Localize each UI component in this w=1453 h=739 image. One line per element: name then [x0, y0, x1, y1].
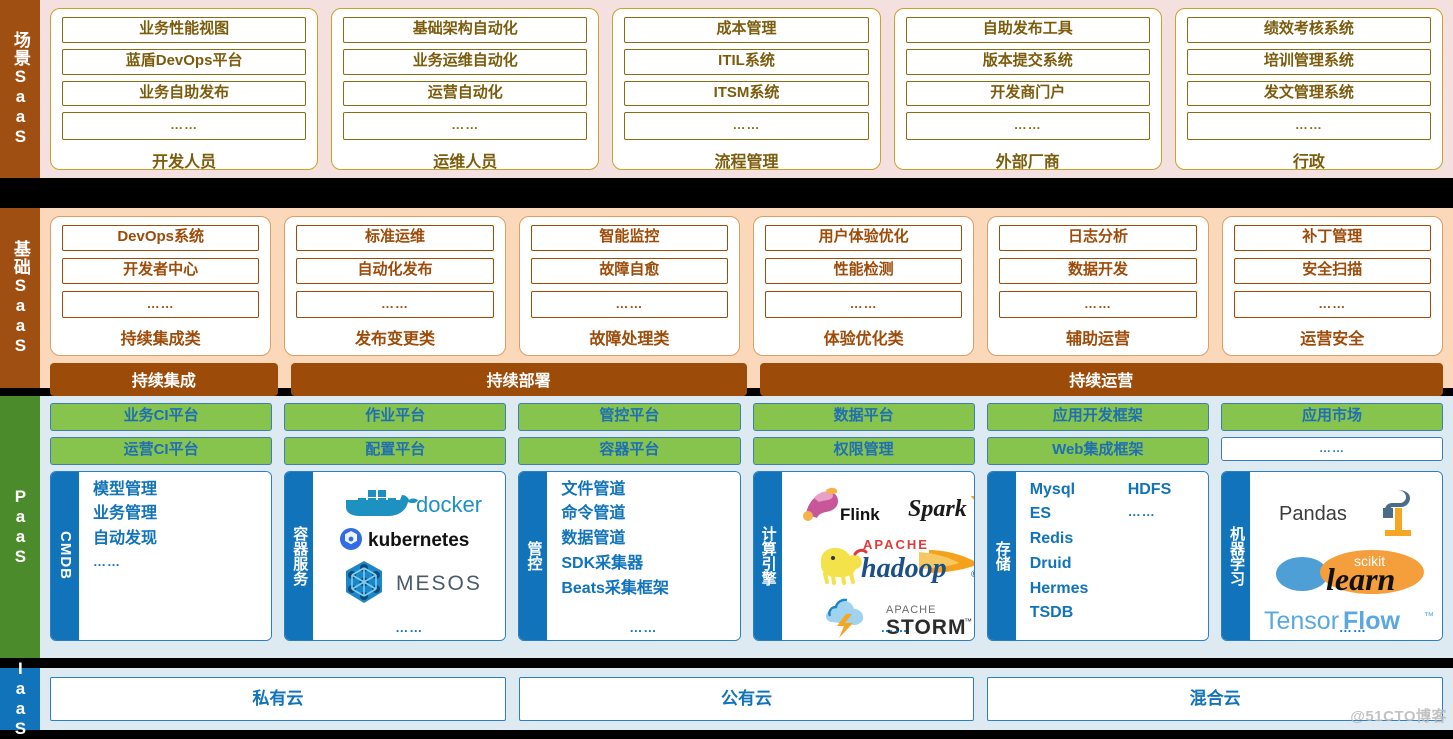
scene-saas-item[interactable]: ITIL系统: [624, 49, 868, 75]
svg-text:hadoop: hadoop: [861, 553, 947, 584]
pandas-logo: Pandas: [1277, 484, 1437, 540]
scene-saas-item[interactable]: ……: [343, 112, 587, 139]
panel-list-item[interactable]: 模型管理: [93, 480, 265, 501]
platform-column: 作业平台配置平台: [284, 403, 506, 465]
watermark: @51CTO博客: [1350, 705, 1447, 726]
iaas-layer-label: IaaS: [0, 668, 40, 730]
paas-panel-cmdb: CMDB模型管理业务管理自动发现……: [50, 471, 272, 641]
paas-layer: PaaS 业务CI平台运营CI平台作业平台配置平台管控平台容器平台数据平台权限管…: [0, 396, 1453, 658]
svg-text:APACHE: APACHE: [886, 604, 936, 616]
platform-box[interactable]: 权限管理: [753, 437, 975, 465]
mesos-logo: MESOS: [338, 558, 488, 606]
scene-saas-card: 自助发布工具版本提交系统开发商门户……外部厂商: [894, 8, 1162, 170]
panel-list-item[interactable]: Redis: [1030, 529, 1116, 550]
platform-box[interactable]: ……: [1221, 437, 1443, 461]
paas-body: 业务CI平台运营CI平台作业平台配置平台管控平台容器平台数据平台权限管理应用开发…: [40, 396, 1453, 658]
base-saas-card: DevOps系统开发者中心……持续集成类: [50, 216, 271, 356]
scene-saas-card: 业务性能视图蓝盾DevOps平台业务自助发布……开发人员: [50, 8, 318, 170]
platform-column: 应用开发框架Web集成框架: [987, 403, 1209, 465]
scene-saas-item[interactable]: ……: [1187, 112, 1431, 139]
panel-list-item[interactable]: Hermes: [1030, 579, 1116, 600]
scene-saas-item[interactable]: 自助发布工具: [906, 17, 1150, 43]
paas-panel-管控: 管控文件管道命令管道数据管道SDK采集器Beats采集框架……: [518, 471, 740, 641]
paas-panel-计算引擎: 计算引擎 Flink Spark APACHE hadoop ® APACHE …: [753, 471, 975, 641]
svg-text:®: ®: [971, 569, 975, 579]
panel-dots: ……: [313, 620, 505, 635]
base-saas-cards: DevOps系统开发者中心……持续集成类标准运维自动化发布……发布变更类智能监控…: [50, 216, 1443, 356]
platform-box[interactable]: 管控平台: [518, 403, 740, 431]
base-saas-layer: 基础SaaS DevOps系统开发者中心……持续集成类标准运维自动化发布……发布…: [0, 208, 1453, 388]
platform-box[interactable]: 数据平台: [753, 403, 975, 431]
base-saas-item[interactable]: 开发者中心: [62, 258, 259, 284]
base-saas-item[interactable]: 日志分析: [999, 225, 1196, 251]
panel-logo-stack: docker kubernetes MESOS: [327, 480, 499, 606]
panel-tab[interactable]: 机器学习: [1222, 472, 1250, 640]
flink-logo: Flink: [796, 484, 900, 528]
panel-list-item[interactable]: 自动发现: [93, 529, 265, 550]
scene-saas-card: 绩效考核系统培训管理系统发文管理系统……行政: [1175, 8, 1443, 170]
scene-saas-layer-label: 场景SaaS: [0, 0, 40, 178]
panel-list-column-2: HDFS……: [1128, 480, 1172, 625]
panel-tab-label: 容器服务: [291, 526, 307, 586]
spark-logo: Spark: [906, 484, 975, 528]
panel-body: 文件管道命令管道数据管道SDK采集器Beats采集框架……: [547, 472, 739, 640]
platform-box[interactable]: 应用开发框架: [987, 403, 1209, 431]
platform-box[interactable]: 配置平台: [284, 437, 506, 465]
panel-tab[interactable]: CMDB: [51, 472, 79, 640]
iaas-items: 私有云公有云混合云: [40, 668, 1453, 730]
base-saas-role: 持续集成类: [62, 325, 259, 349]
platform-box[interactable]: 作业平台: [284, 403, 506, 431]
base-saas-card: 日志分析数据开发……辅助运营: [987, 216, 1208, 356]
base-saas-item[interactable]: 数据开发: [999, 258, 1196, 284]
paas-panel-机器学习: 机器学习 Pandas scikit learn Tensor Flow ™……: [1221, 471, 1443, 641]
base-saas-item[interactable]: ……: [531, 291, 728, 318]
base-saas-card: 标准运维自动化发布……发布变更类: [284, 216, 505, 356]
panel-dots: ……: [547, 620, 739, 635]
base-saas-item[interactable]: 用户体验优化: [765, 225, 962, 251]
panel-body: Pandas scikit learn Tensor Flow ™……: [1250, 472, 1443, 640]
panel-tab[interactable]: 容器服务: [285, 472, 313, 640]
scene-saas-cards: 业务性能视图蓝盾DevOps平台业务自助发布……开发人员基础架构自动化业务运维自…: [40, 0, 1453, 178]
platform-box[interactable]: 容器平台: [518, 437, 740, 465]
scene-saas-item[interactable]: ……: [624, 112, 868, 139]
pipeline-bars: 持续集成持续部署持续运营: [50, 363, 1443, 396]
scene-saas-item[interactable]: 业务性能视图: [62, 17, 306, 43]
base-saas-item[interactable]: ……: [296, 291, 493, 318]
scene-saas-card: 基础架构自动化业务运维自动化运营自动化……运维人员: [331, 8, 599, 170]
scene-saas-role: 运维人员: [343, 146, 587, 172]
panel-tab-label: 管控: [525, 541, 541, 571]
panel-logo-stack: Pandas scikit learn Tensor Flow ™: [1264, 480, 1443, 636]
base-saas-item[interactable]: 自动化发布: [296, 258, 493, 284]
paas-layer-label: PaaS: [0, 396, 40, 658]
scene-saas-item[interactable]: 基础架构自动化: [343, 17, 587, 43]
scene-saas-role: 流程管理: [624, 146, 868, 172]
base-saas-item[interactable]: 故障自愈: [531, 258, 728, 284]
iaas-item[interactable]: 私有云: [50, 677, 506, 721]
pipeline-bar[interactable]: 持续部署: [291, 363, 747, 396]
scene-saas-item[interactable]: 发文管理系统: [1187, 81, 1431, 107]
panel-tab-label: 存储: [994, 541, 1010, 571]
panel-body: MysqlESRedisDruidHermesTSDBHDFS……: [1016, 472, 1208, 640]
kubernetes-logo: kubernetes: [338, 526, 488, 552]
panel-list-item[interactable]: ES: [1030, 504, 1116, 525]
base-saas-card: 用户体验优化性能检测……体验优化类: [753, 216, 974, 356]
scene-saas-item[interactable]: 运营自动化: [343, 81, 587, 107]
svg-text:APACHE: APACHE: [863, 537, 929, 552]
svg-text:kubernetes: kubernetes: [368, 530, 469, 551]
svg-text:Flink: Flink: [840, 505, 880, 524]
svg-text:learn: learn: [1326, 561, 1395, 597]
pipeline-bar[interactable]: 持续集成: [50, 363, 278, 396]
scene-saas-item[interactable]: ITSM系统: [624, 81, 868, 107]
base-saas-role: 运营安全: [1234, 325, 1431, 349]
base-saas-card: 补丁管理安全扫描……运营安全: [1222, 216, 1443, 356]
panel-tab-label: CMDB: [57, 531, 73, 580]
base-saas-role: 辅助运营: [999, 325, 1196, 349]
panel-list-item[interactable]: Mysql: [1030, 480, 1116, 501]
panel-tab[interactable]: 存储: [988, 472, 1016, 640]
base-saas-role: 体验优化类: [765, 325, 962, 349]
scene-saas-item[interactable]: 开发商门户: [906, 81, 1150, 107]
base-saas-card: 智能监控故障自愈……故障处理类: [519, 216, 740, 356]
panel-list-item[interactable]: 命令管道: [561, 504, 733, 525]
scene-saas-role: 开发人员: [62, 146, 306, 172]
panel-list: 模型管理业务管理自动发现……: [93, 480, 265, 571]
panel-list-item[interactable]: HDFS: [1128, 480, 1172, 501]
base-saas-label-text: 基础SaaS: [11, 240, 29, 356]
iaas-label-text: IaaS: [11, 659, 29, 739]
iaas-layer: IaaS 私有云公有云混合云: [0, 668, 1453, 730]
platform-column: 管控平台容器平台: [518, 403, 740, 465]
panel-two-column: MysqlESRedisDruidHermesTSDBHDFS……: [1030, 480, 1202, 625]
platform-column: 应用市场……: [1221, 403, 1443, 465]
logo-row: Flink Spark: [796, 484, 975, 528]
panel-list-item[interactable]: Beats采集框架: [561, 579, 733, 600]
base-saas-layer-label: 基础SaaS: [0, 208, 40, 388]
base-saas-role: 发布变更类: [296, 325, 493, 349]
base-saas-role: 故障处理类: [531, 325, 728, 349]
panel-list-item[interactable]: ……: [1128, 504, 1172, 521]
paas-panels: CMDB模型管理业务管理自动发现……容器服务 docker kubernetes…: [50, 471, 1443, 641]
base-saas-item[interactable]: 补丁管理: [1234, 225, 1431, 251]
scene-saas-item[interactable]: 蓝盾DevOps平台: [62, 49, 306, 75]
panel-tab-label: 机器学习: [1228, 526, 1244, 586]
iaas-item[interactable]: 公有云: [519, 677, 975, 721]
scene-saas-item[interactable]: 业务自助发布: [62, 81, 306, 107]
scene-saas-item[interactable]: 成本管理: [624, 17, 868, 43]
platform-box[interactable]: 应用市场: [1221, 403, 1443, 431]
svg-text:docker: docker: [416, 492, 482, 517]
scene-saas-item[interactable]: 版本提交系统: [906, 49, 1150, 75]
base-saas-item[interactable]: ……: [999, 291, 1196, 318]
base-saas-item[interactable]: 标准运维: [296, 225, 493, 251]
base-saas-item[interactable]: ……: [765, 291, 962, 318]
base-saas-item[interactable]: 性能检测: [765, 258, 962, 284]
panel-list-item[interactable]: 数据管道: [561, 529, 733, 550]
base-saas-item[interactable]: 安全扫描: [1234, 258, 1431, 284]
panel-body: 模型管理业务管理自动发现……: [79, 472, 271, 640]
panel-body: docker kubernetes MESOS……: [313, 472, 505, 640]
panel-body: Flink Spark APACHE hadoop ® APACHE STORM…: [782, 472, 975, 640]
panel-list: 文件管道命令管道数据管道SDK采集器Beats采集框架: [561, 480, 733, 600]
base-saas-body: DevOps系统开发者中心……持续集成类标准运维自动化发布……发布变更类智能监控…: [40, 208, 1453, 388]
scene-saas-item[interactable]: 培训管理系统: [1187, 49, 1431, 75]
scene-saas-card: 成本管理ITIL系统ITSM系统……流程管理: [612, 8, 880, 170]
hadoop-logo: APACHE hadoop ®: [811, 534, 975, 590]
scene-saas-item[interactable]: ……: [906, 112, 1150, 139]
platform-box[interactable]: 业务CI平台: [50, 403, 272, 431]
platform-boxes: 业务CI平台运营CI平台作业平台配置平台管控平台容器平台数据平台权限管理应用开发…: [50, 403, 1443, 465]
paas-panel-容器服务: 容器服务 docker kubernetes MESOS……: [284, 471, 506, 641]
svg-text:Spark: Spark: [908, 496, 967, 522]
scene-saas-label-text: 场景SaaS: [11, 31, 29, 147]
platform-box[interactable]: 运营CI平台: [50, 437, 272, 465]
platform-box[interactable]: Web集成框架: [987, 437, 1209, 465]
scene-saas-role: 外部厂商: [906, 146, 1150, 172]
scene-saas-item[interactable]: ……: [62, 112, 306, 139]
pipeline-bar[interactable]: 持续运营: [760, 363, 1444, 396]
panel-dots: ……: [782, 620, 975, 635]
panel-list-item[interactable]: Druid: [1030, 554, 1116, 575]
scene-saas-item[interactable]: 业务运维自动化: [343, 49, 587, 75]
paas-panel-存储: 存储MysqlESRedisDruidHermesTSDBHDFS……: [987, 471, 1209, 641]
paas-label-text: PaaS: [11, 487, 29, 567]
platform-column: 数据平台权限管理: [753, 403, 975, 465]
panel-list-item[interactable]: SDK采集器: [561, 554, 733, 575]
scikit-learn-logo: scikit learn: [1268, 546, 1443, 598]
scene-saas-role: 行政: [1187, 146, 1431, 172]
base-saas-item[interactable]: 智能监控: [531, 225, 728, 251]
panel-tab[interactable]: 计算引擎: [754, 472, 782, 640]
base-saas-item[interactable]: ……: [1234, 291, 1431, 318]
svg-text:MESOS: MESOS: [396, 572, 482, 595]
panel-list-item[interactable]: ……: [93, 554, 265, 571]
panel-list-item[interactable]: 文件管道: [561, 480, 733, 501]
scene-saas-item[interactable]: 绩效考核系统: [1187, 17, 1431, 43]
svg-text:Pandas: Pandas: [1279, 503, 1347, 525]
base-saas-item[interactable]: DevOps系统: [62, 225, 259, 251]
scene-saas-layer: 场景SaaS 业务性能视图蓝盾DevOps平台业务自助发布……开发人员基础架构自…: [0, 0, 1453, 178]
panel-list-item[interactable]: TSDB: [1030, 603, 1116, 624]
panel-tab-label: 计算引擎: [759, 526, 775, 586]
panel-dots: ……: [1250, 620, 1443, 635]
panel-list-item[interactable]: 业务管理: [93, 504, 265, 525]
base-saas-item[interactable]: ……: [62, 291, 259, 318]
panel-list-column-1: MysqlESRedisDruidHermesTSDB: [1030, 480, 1116, 625]
panel-tab[interactable]: 管控: [519, 472, 547, 640]
docker-logo: docker: [338, 484, 488, 520]
panel-logo-stack: Flink Spark APACHE hadoop ® APACHE STORM…: [796, 480, 975, 640]
platform-column: 业务CI平台运营CI平台: [50, 403, 272, 465]
